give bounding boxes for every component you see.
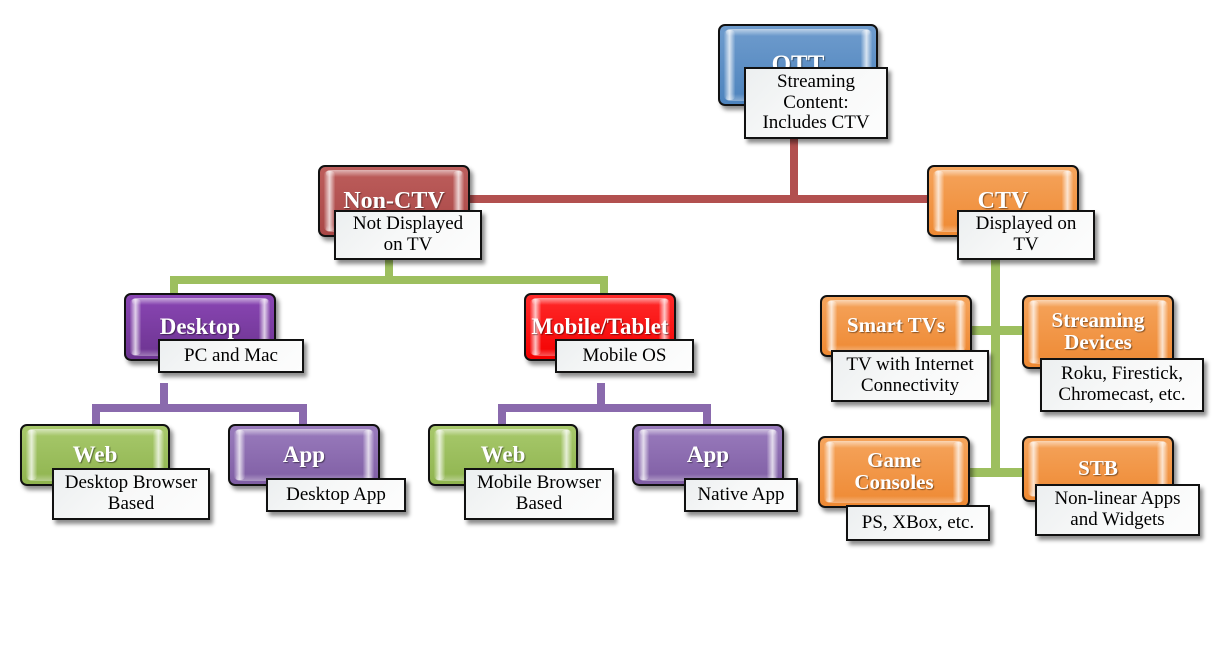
node-mobile-tablet[interactable]: Mobile/Tablet Mobile OS [524,293,694,383]
node-mobile-web[interactable]: Web Mobile Browser Based [428,424,614,520]
node-game-consoles[interactable]: Game Consoles PS, XBox, etc. [818,436,990,541]
node-smart-tvs-title: Smart TVs [822,297,970,355]
node-desktop-web[interactable]: Web Desktop Browser Based [20,424,210,520]
node-desktop-app-caption: Desktop App [266,478,406,512]
diagram-canvas: OTT Streaming Content: Includes CTV Non-… [0,0,1221,653]
node-mobile-app-caption: Native App [684,478,798,512]
node-ott-caption: Streaming Content: Includes CTV [744,67,888,139]
node-smart-tvs-caption: TV with Internet Connectivity [831,350,989,402]
connector-nonctv-bar [170,276,608,284]
node-streaming-devices-title: Streaming Devices [1024,297,1172,367]
node-game-consoles-caption: PS, XBox, etc. [846,505,990,541]
node-ctv[interactable]: CTV Displayed on TV [927,165,1095,260]
connector-mobile-bar [498,404,711,412]
node-desktop-app-title: App [230,426,378,484]
node-ott[interactable]: OTT Streaming Content: Includes CTV [718,24,888,139]
node-game-consoles-title: Game Consoles [820,438,968,506]
node-mobile-app-plaque[interactable]: App [632,424,784,486]
node-smart-tvs[interactable]: Smart TVs TV with Internet Connectivity [820,295,990,402]
node-non-ctv[interactable]: Non-CTV Not Displayed on TV [318,165,483,260]
node-stb-caption: Non-linear Apps and Widgets [1035,484,1200,536]
connector-desktop-bar [92,404,307,412]
node-stb[interactable]: STB Non-linear Apps and Widgets [1022,436,1200,536]
node-mobile-web-caption: Mobile Browser Based [464,468,614,520]
node-desktop-app-plaque[interactable]: App [228,424,380,486]
node-desktop-app[interactable]: App Desktop App [228,424,406,512]
node-smart-tvs-plaque[interactable]: Smart TVs [820,295,972,357]
node-streaming-devices-caption: Roku, Firestick, Chromecast, etc. [1040,358,1204,412]
node-desktop-caption: PC and Mac [158,339,304,373]
connector-ctv-trunk [991,256,1000,476]
node-mobile-tablet-caption: Mobile OS [555,339,694,373]
node-streaming-devices[interactable]: Streaming Devices Roku, Firestick, Chrom… [1022,295,1204,412]
node-mobile-app[interactable]: App Native App [632,424,798,512]
node-non-ctv-caption: Not Displayed on TV [334,210,482,260]
connector-ott-stem [790,133,798,199]
node-desktop[interactable]: Desktop PC and Mac [124,293,304,383]
node-game-consoles-plaque[interactable]: Game Consoles [818,436,970,508]
node-mobile-app-title: App [634,426,782,484]
node-ctv-caption: Displayed on TV [957,210,1095,260]
connector-level2-bus [468,195,930,203]
node-desktop-web-caption: Desktop Browser Based [52,468,210,520]
